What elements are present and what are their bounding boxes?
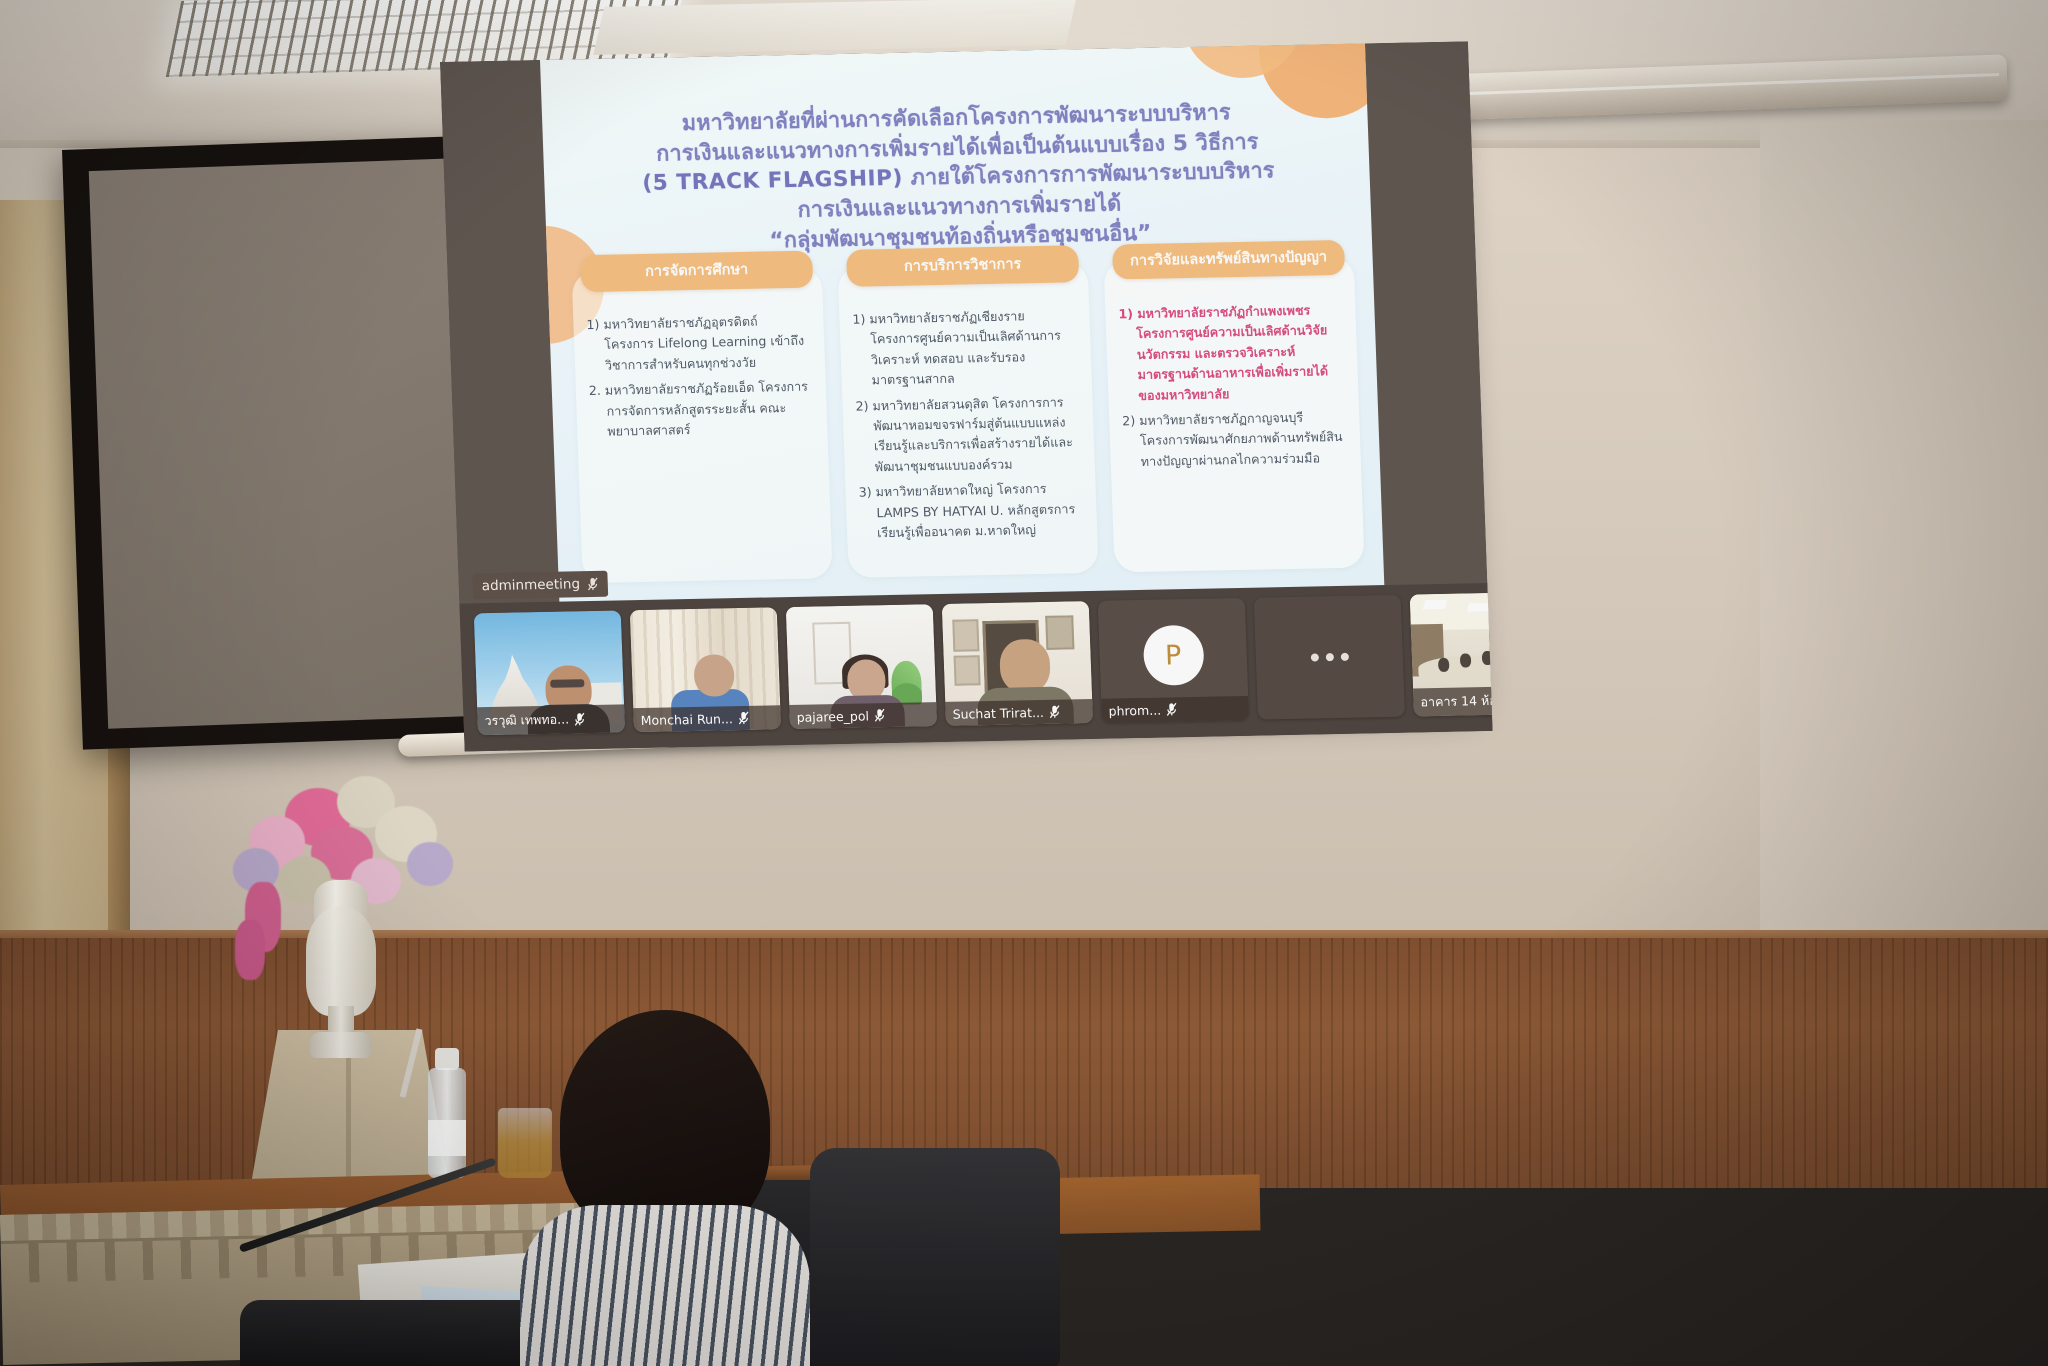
participant-name-bar: อาคาร 14 ห้องประชุมชั้... bbox=[1413, 684, 1493, 716]
participant-tile-4[interactable]: Suchat Trirat... bbox=[942, 601, 1093, 726]
participant-tiles: วรวุฒิ เทพทอ... bbox=[474, 590, 1493, 735]
glasses-shape bbox=[550, 679, 584, 688]
list-item: 2) มหาวิทยาลัยสวนดุสิต โครงการการพัฒนาหอ… bbox=[855, 392, 1082, 478]
participant-name-bar: phrom... bbox=[1101, 696, 1249, 723]
vase-body bbox=[306, 906, 376, 1016]
slide-title: มหาวิทยาลัยที่ผ่านการคัดเลือกโครงการพัฒน… bbox=[588, 96, 1329, 259]
office-chair-right bbox=[810, 1148, 1060, 1366]
participant-head bbox=[693, 655, 734, 698]
screenshare-label: adminmeeting bbox=[472, 571, 608, 600]
projected-desktop: มหาวิทยาลัยที่ผ่านการคัดเลือกโครงการพัฒน… bbox=[440, 41, 1493, 751]
wall-frame bbox=[952, 619, 979, 652]
mic-muted-icon bbox=[587, 576, 600, 592]
column-list-academic-service: 1) มหาวิทยาลัยราชภัฏเชียงราย โครงการศูนย… bbox=[852, 305, 1084, 544]
seated-attendee bbox=[540, 1010, 790, 1366]
column-list-research-ip: 1) มหาวิทยาลัยราชภัฏกำแพงเพชร โครงการศูน… bbox=[1118, 300, 1348, 473]
list-item: 2. มหาวิทยาลัยราชภัฏร้อยเอ็ด โครงการการจ… bbox=[589, 377, 815, 443]
participant-name-bar: pajaree_pol bbox=[789, 702, 937, 729]
wall-frame bbox=[954, 655, 981, 686]
flower-trailing bbox=[235, 920, 265, 980]
participant-name: Monchai Run... bbox=[640, 711, 733, 728]
videoconference-participant-strip: adminmeeting bbox=[459, 583, 1492, 752]
slide-columns: การจัดการศึกษา 1) มหาวิทยาลัยราชภัฏอุตรด… bbox=[572, 256, 1365, 583]
list-item: 2) มหาวิทยาลัยราชภัฏกาญจนบุรี โครงการพัฒ… bbox=[1122, 407, 1348, 473]
list-item-highlighted: 1) มหาวิทยาลัยราชภัฏกำแพงเพชร โครงการศูน… bbox=[1118, 300, 1346, 406]
presentation-slide: มหาวิทยาลัยที่ผ่านการคัดเลือกโครงการพัฒน… bbox=[540, 43, 1384, 604]
column-header-education: การจัดการศึกษา bbox=[580, 251, 813, 292]
participant-tile-2[interactable]: Monchai Run... bbox=[630, 607, 781, 732]
participant-tile-more[interactable] bbox=[1254, 595, 1405, 720]
column-research-ip: การวิจัยและทรัพย์สินทางปัญญา 1) มหาวิทยา… bbox=[1104, 256, 1365, 573]
participant-name: phrom... bbox=[1108, 702, 1161, 718]
column-academic-service: การบริการวิชาการ 1) มหาวิทยาลัยราชภัฏเชี… bbox=[838, 261, 1099, 578]
list-item: 1) มหาวิทยาลัยราชภัฏเชียงราย โครงการศูนย… bbox=[852, 305, 1079, 391]
column-education: การจัดการศึกษา 1) มหาวิทยาลัยราชภัฏอุตรด… bbox=[572, 266, 833, 583]
wall-right bbox=[1760, 120, 2048, 950]
flower-vase bbox=[280, 880, 400, 1070]
participant-name: pajaree_pol bbox=[796, 708, 869, 724]
flower bbox=[407, 842, 453, 886]
projected-image: มหาวิทยาลัยที่ผ่านการคัดเลือกโครงการพัฒน… bbox=[440, 41, 1493, 751]
mic-muted-icon bbox=[574, 711, 587, 727]
mic-muted-icon bbox=[1166, 701, 1179, 717]
water-bottle bbox=[425, 1048, 469, 1178]
column-header-research-ip: การวิจัยและทรัพย์สินทางปัญญา bbox=[1112, 240, 1345, 279]
office-chair-front bbox=[240, 1300, 550, 1366]
participant-name-bar: วรวุฒิ เทพทอ... bbox=[477, 704, 625, 735]
list-item: 3) มหาวิทยาลัยหาดใหญ่ โครงการ LAMPS BY H… bbox=[858, 478, 1084, 544]
screenshare-label-text: adminmeeting bbox=[481, 576, 580, 594]
participant-name-bar: Monchai Run... bbox=[633, 705, 781, 732]
attendee bbox=[1438, 658, 1450, 672]
list-item: 1) มหาวิทยาลัยราชภัฏอุตรดิตถ์ โครงการ Li… bbox=[586, 311, 812, 377]
participant-name: Suchat Trirat... bbox=[952, 704, 1044, 721]
participant-name-bar: Suchat Trirat... bbox=[945, 699, 1093, 726]
screenshot-root: มหาวิทยาลัยที่ผ่านการคัดเลือกโครงการพัฒน… bbox=[0, 0, 2048, 1366]
participant-head bbox=[999, 638, 1051, 693]
bottle-label bbox=[428, 1120, 466, 1156]
vase-foot bbox=[310, 1032, 372, 1058]
participant-name: อาคาร 14 ห้องประชุมชั้... bbox=[1420, 690, 1492, 713]
avatar: P bbox=[1142, 625, 1204, 686]
participant-tile-1[interactable]: วรวุฒิ เทพทอ... bbox=[474, 610, 625, 735]
mic-muted-icon bbox=[1049, 704, 1062, 720]
column-header-academic-service: การบริการวิชาการ bbox=[846, 245, 1079, 286]
participant-tile-5[interactable]: P phrom... bbox=[1098, 598, 1249, 723]
flagship-term: (5 TRACK FLAGSHIP) bbox=[642, 166, 903, 196]
participant-tile-7[interactable]: อาคาร 14 ห้องประชุมชั้... bbox=[1410, 590, 1493, 716]
column-list-education: 1) มหาวิทยาลัยราชภัฏอุตรดิตถ์ โครงการ Li… bbox=[586, 311, 815, 443]
wall-frame bbox=[1045, 615, 1074, 650]
more-dots-icon bbox=[1310, 653, 1348, 662]
mic-muted-icon bbox=[738, 710, 751, 726]
participant-name: วรวุฒิ เทพทอ... bbox=[484, 709, 569, 731]
avatar-initial: P bbox=[1164, 640, 1181, 671]
participant-tile-3[interactable]: pajaree_pol bbox=[786, 604, 937, 729]
ceiling-light bbox=[1423, 600, 1448, 609]
bottle-cap bbox=[435, 1048, 459, 1070]
attendee-shoulders bbox=[520, 1205, 810, 1366]
attendee bbox=[1460, 653, 1471, 667]
mic-muted-icon bbox=[874, 707, 887, 723]
